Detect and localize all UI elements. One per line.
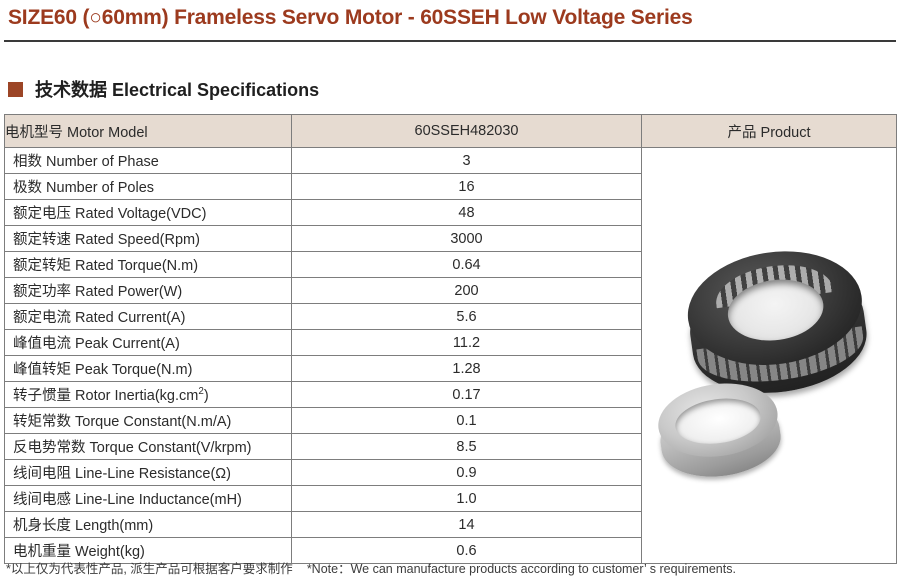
spec-value: 3000 [292, 226, 642, 252]
spec-label: 峰值电流 Peak Current(A) [5, 330, 292, 356]
footnote-en: *Note：We can manufacture products accord… [307, 562, 736, 576]
spec-value: 8.5 [292, 434, 642, 460]
spec-label: 峰值转矩 Peak Torque(N.m) [5, 356, 292, 382]
footnote-cn: *以上仅为代表性产品, 派生产品可根据客户要求制作 [6, 562, 293, 576]
spec-label: 额定电压 Rated Voltage(VDC) [5, 200, 292, 226]
spec-label: 反电势常数 Torque Constant(V/krpm) [5, 434, 292, 460]
spec-label: 额定功率 Rated Power(W) [5, 278, 292, 304]
square-bullet-icon [8, 82, 23, 97]
rotor-ring-graphic [653, 376, 786, 494]
spec-value: 1.0 [292, 486, 642, 512]
spec-value: 48 [292, 200, 642, 226]
spec-label: 额定电流 Rated Current(A) [5, 304, 292, 330]
spec-label-rotor-inertia: 转子惯量 Rotor Inertia(kg.cm2) [5, 382, 292, 408]
spec-label-text: 转子惯量 Rotor Inertia(kg.cm [13, 388, 198, 404]
section-header: 技术数据 Electrical Specifications [8, 76, 319, 102]
spec-value: 0.1 [292, 408, 642, 434]
product-photo [642, 148, 895, 563]
page-title: SIZE60 (○60mm) Frameless Servo Motor - 6… [8, 6, 693, 30]
spec-value: 0.9 [292, 460, 642, 486]
footnote: *以上仅为代表性产品, 派生产品可根据客户要求制作*Note：We can ma… [6, 558, 736, 577]
spec-value: 200 [292, 278, 642, 304]
product-image-cell [642, 148, 897, 564]
spec-value: 1.28 [292, 356, 642, 382]
header-product: 产品 Product [642, 115, 897, 148]
title-divider [4, 40, 896, 42]
spec-label: 转矩常数 Torque Constant(N.m/A) [5, 408, 292, 434]
spec-label: 线间电感 Line-Line Inductance(mH) [5, 486, 292, 512]
spec-value: 0.17 [292, 382, 642, 408]
table-row: 相数 Number of Phase 3 [5, 148, 897, 174]
header-motor-model: 电机型号 Motor Model [5, 115, 292, 148]
spec-value: 11.2 [292, 330, 642, 356]
section-title: 技术数据 Electrical Specifications [35, 76, 319, 102]
spec-label: 线间电阻 Line-Line Resistance(Ω) [5, 460, 292, 486]
spec-value: 3 [292, 148, 642, 174]
spec-value: 16 [292, 174, 642, 200]
spec-value: 0.64 [292, 252, 642, 278]
spec-label: 额定转速 Rated Speed(Rpm) [5, 226, 292, 252]
spec-label-text-suffix: ) [204, 388, 209, 404]
header-model-number: 60SSEH482030 [292, 115, 642, 148]
spec-value: 14 [292, 512, 642, 538]
spec-label: 机身长度 Length(mm) [5, 512, 292, 538]
spec-label: 额定转矩 Rated Torque(N.m) [5, 252, 292, 278]
spec-label: 相数 Number of Phase [5, 148, 292, 174]
spec-value: 5.6 [292, 304, 642, 330]
spec-label: 极数 Number of Poles [5, 174, 292, 200]
table-header-row: 电机型号 Motor Model 60SSEH482030 产品 Product [5, 115, 897, 148]
specifications-table: 电机型号 Motor Model 60SSEH482030 产品 Product… [4, 114, 897, 564]
